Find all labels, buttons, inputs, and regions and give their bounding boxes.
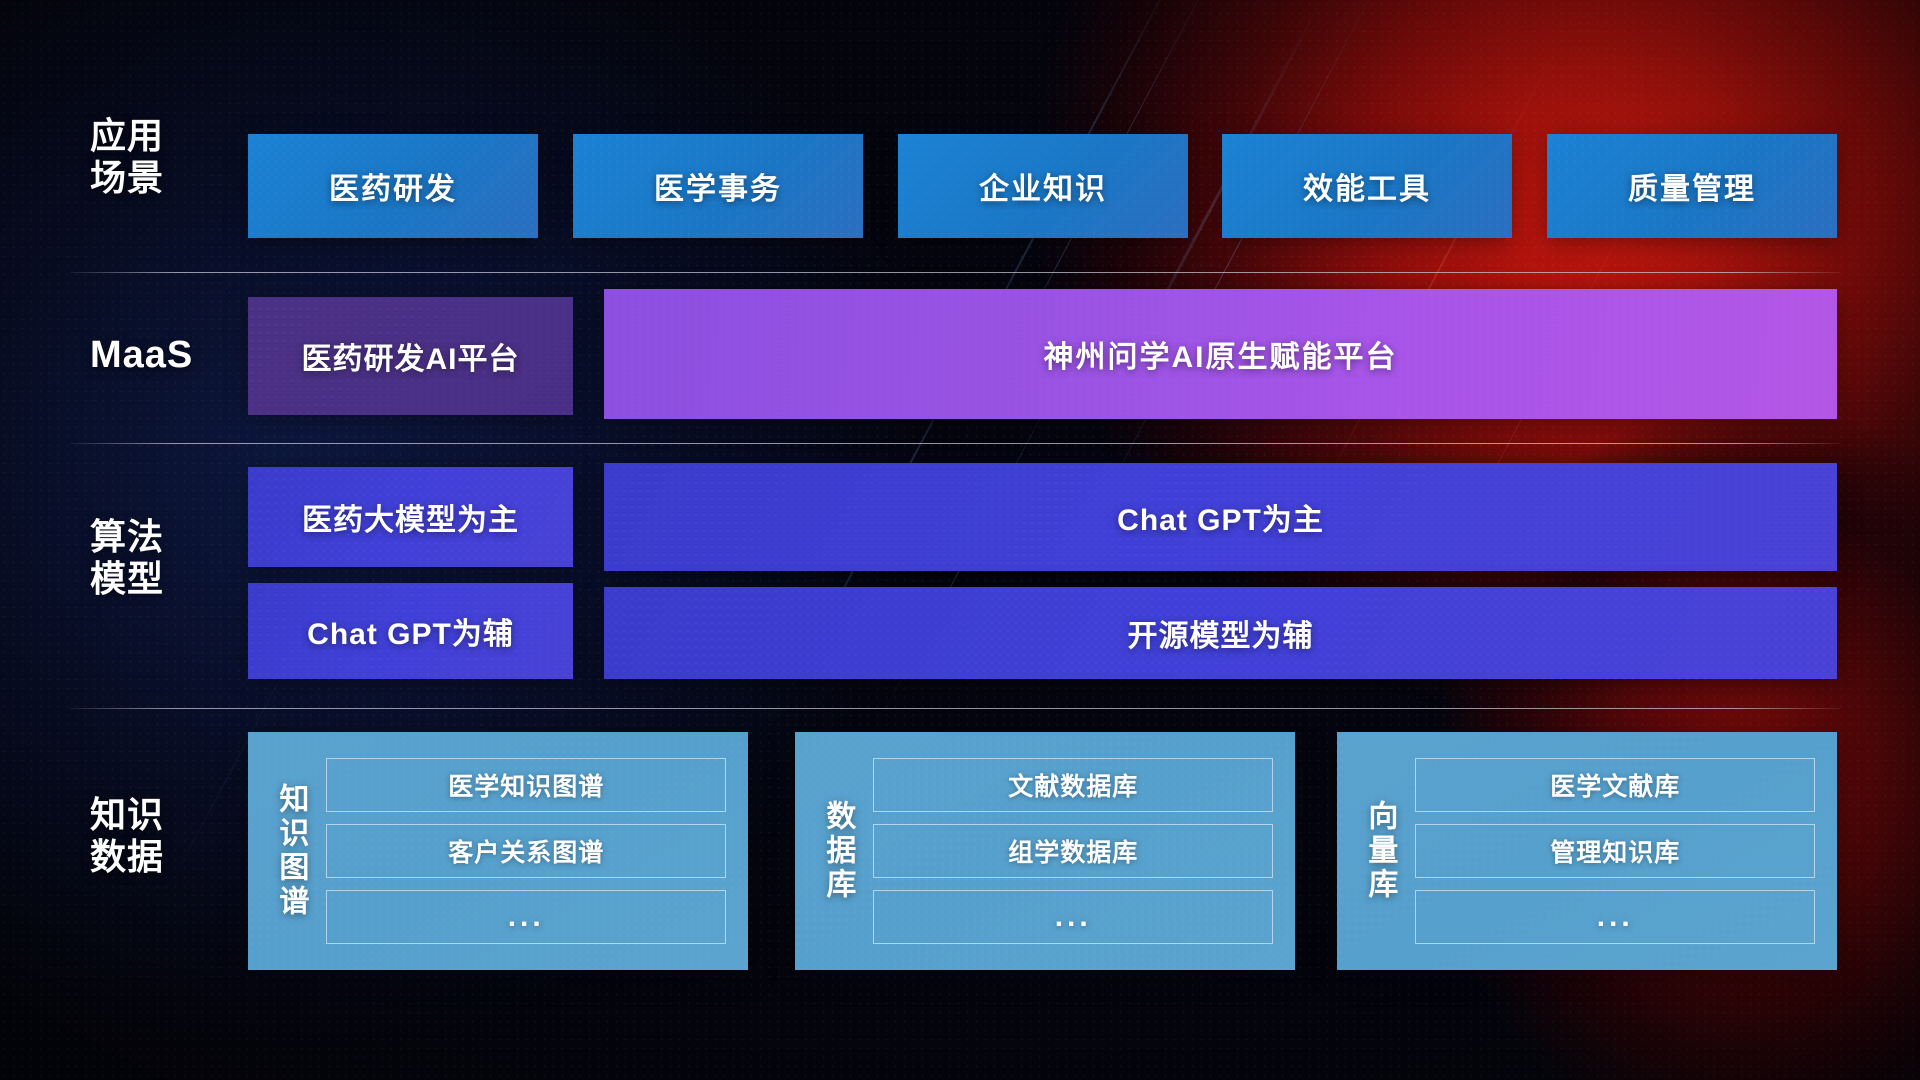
row-label-algorithm-line1: 算法 <box>90 516 240 558</box>
app-scenario-box-4[interactable]: 效能工具 <box>1222 134 1512 238</box>
maas-label-shenzhou-platform: 神州问学AI原生赋能平台 <box>1044 332 1398 376</box>
knowledge-item-vector-more[interactable]: ... <box>1415 890 1815 944</box>
divider-maas-algorithm <box>70 443 1840 444</box>
app-scenario-label-1: 医药研发 <box>329 164 457 208</box>
row-label-maas: MaaS <box>90 333 240 378</box>
knowledge-group-graph[interactable]: 知识图谱 医学知识图谱 客户关系图谱 ... <box>248 732 748 970</box>
algorithm-label-chatgpt-secondary: Chat GPT为辅 <box>307 609 514 653</box>
knowledge-item-medical-literature[interactable]: 医学文献库 <box>1415 758 1815 812</box>
row-label-algorithm-line2: 模型 <box>90 558 240 600</box>
knowledge-group-graph-label: 知识图谱 <box>274 783 306 919</box>
algorithm-box-pharma-primary[interactable]: 医药大模型为主 <box>248 467 573 567</box>
knowledge-item-management-knowledge[interactable]: 管理知识库 <box>1415 824 1815 878</box>
row-label-application: 应用 场景 <box>90 115 240 200</box>
app-scenario-label-4: 效能工具 <box>1303 164 1431 208</box>
knowledge-item-graph-more[interactable]: ... <box>326 890 726 944</box>
architecture-diagram: 应用 场景 医药研发 医学事务 企业知识 效能工具 质量管理 MaaS 医药研发… <box>0 0 1920 1080</box>
row-label-maas-line1: MaaS <box>90 333 240 378</box>
app-scenario-label-5: 质量管理 <box>1628 164 1756 208</box>
knowledge-group-vector[interactable]: 向量库 医学文献库 管理知识库 ... <box>1337 732 1837 970</box>
maas-box-pharma-platform[interactable]: 医药研发AI平台 <box>248 297 573 415</box>
algorithm-box-chatgpt-secondary[interactable]: Chat GPT为辅 <box>248 583 573 679</box>
knowledge-group-database-items: 文献数据库 组学数据库 ... <box>873 758 1273 944</box>
row-label-knowledge: 知识 数据 <box>90 794 240 879</box>
row-label-knowledge-line2: 数据 <box>90 836 240 878</box>
maas-label-pharma-platform: 医药研发AI平台 <box>302 334 520 378</box>
knowledge-item-medical-graph[interactable]: 医学知识图谱 <box>326 758 726 812</box>
algorithm-box-opensource-secondary[interactable]: 开源模型为辅 <box>604 587 1837 679</box>
maas-box-shenzhou-platform[interactable]: 神州问学AI原生赋能平台 <box>604 289 1837 419</box>
knowledge-item-customer-graph[interactable]: 客户关系图谱 <box>326 824 726 878</box>
knowledge-group-graph-items: 医学知识图谱 客户关系图谱 ... <box>326 758 726 944</box>
divider-algorithm-knowledge <box>70 708 1840 709</box>
knowledge-item-database-more[interactable]: ... <box>873 890 1273 944</box>
app-scenario-label-3: 企业知识 <box>979 164 1107 208</box>
row-label-algorithm: 算法 模型 <box>90 516 240 601</box>
knowledge-group-vector-label: 向量库 <box>1363 800 1395 902</box>
row-label-application-line1: 应用 <box>90 115 240 157</box>
knowledge-group-database[interactable]: 数据库 文献数据库 组学数据库 ... <box>795 732 1295 970</box>
algorithm-label-chatgpt-primary: Chat GPT为主 <box>1117 495 1324 539</box>
algorithm-label-pharma-primary: 医药大模型为主 <box>302 495 519 539</box>
knowledge-item-omics-db[interactable]: 组学数据库 <box>873 824 1273 878</box>
algorithm-box-chatgpt-primary[interactable]: Chat GPT为主 <box>604 463 1837 571</box>
app-scenario-label-2: 医学事务 <box>654 164 782 208</box>
app-scenario-box-2[interactable]: 医学事务 <box>573 134 863 238</box>
app-scenario-box-5[interactable]: 质量管理 <box>1547 134 1837 238</box>
app-scenario-box-1[interactable]: 医药研发 <box>248 134 538 238</box>
knowledge-group-database-label: 数据库 <box>821 800 853 902</box>
row-label-knowledge-line1: 知识 <box>90 794 240 836</box>
algorithm-label-opensource-secondary: 开源模型为辅 <box>1128 611 1314 655</box>
app-scenario-box-3[interactable]: 企业知识 <box>898 134 1188 238</box>
divider-application-maas <box>70 272 1840 273</box>
row-label-application-line2: 场景 <box>90 157 240 199</box>
knowledge-item-literature-db[interactable]: 文献数据库 <box>873 758 1273 812</box>
knowledge-group-vector-items: 医学文献库 管理知识库 ... <box>1415 758 1815 944</box>
